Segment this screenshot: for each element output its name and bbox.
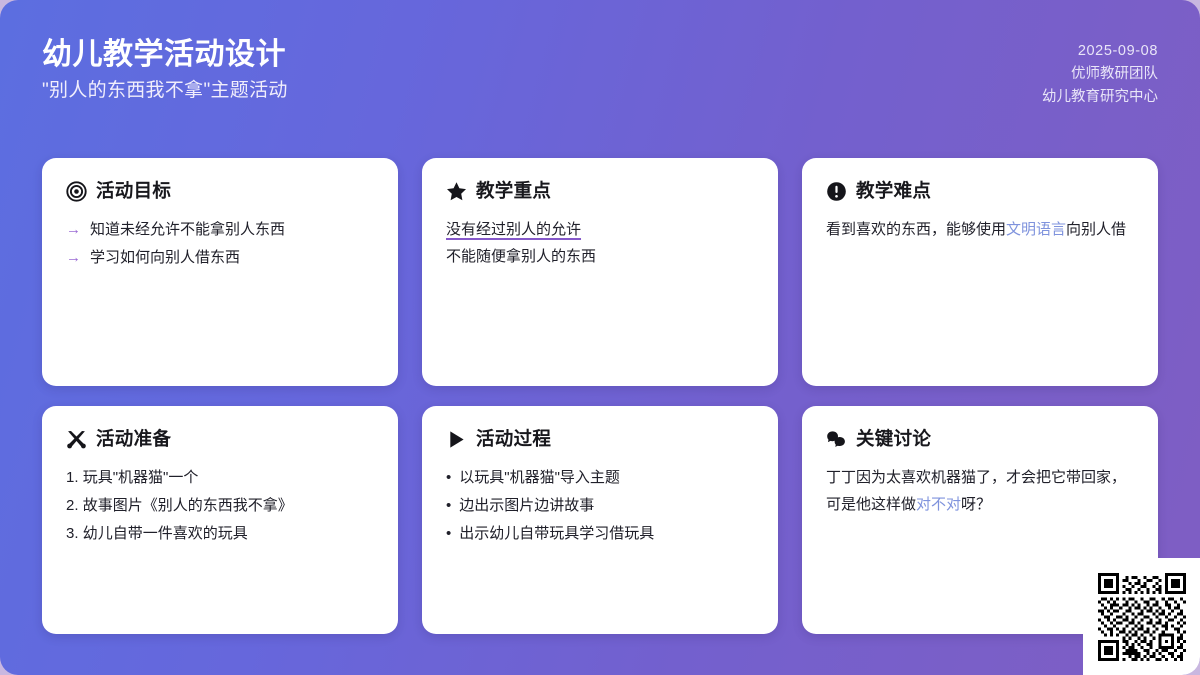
card-activity-preparation: 活动准备 1. 玩具"机器猫"一个 2. 故事图片《别人的东西我不拿》 3. 幼… [42,406,398,634]
card-header: 教学重点 [446,180,754,202]
meta-date: 2025-09-08 [1042,40,1158,63]
meta-org: 幼儿教育研究中心 [1042,86,1158,109]
list-item-label: 边出示图片边讲故事 [459,492,594,520]
list-item: • 出示幼儿自带玩具学习借玩具 [446,520,754,548]
qr-code [1098,573,1186,661]
card-header: 活动目标 [66,180,374,202]
card-title: 教学难点 [856,180,931,202]
card-header: 活动过程 [446,428,754,450]
discussion-paragraph: 丁丁因为太喜欢机器猫了，才会把它带回家，可是他这样做对不对呀？ [826,464,1134,518]
focus-line-2: 不能随便拿别人的东西 [446,243,754,270]
list-item-label: 故事图片《别人的东西我不拿》 [83,497,293,514]
card-body: → 知道未经允许不能拿别人东西 → 学习如何向别人借东西 [66,216,374,272]
list-item: → 学习如何向别人借东西 [66,244,374,272]
list-number: 2. [66,497,79,514]
list-number: 3. [66,525,79,542]
list-item-label: 知道未经允许不能拿别人东西 [90,216,285,244]
preparation-list: 1. 玩具"机器猫"一个 2. 故事图片《别人的东西我不拿》 3. 幼儿自带一件… [66,464,374,548]
paragraph-part: 向别人借 [1066,221,1126,238]
list-item-label: 以玩具"机器猫"导入主题 [459,464,620,492]
card-header: 活动准备 [66,428,374,450]
header-meta: 2025-09-08 优师教研团队 幼儿教育研究中心 [1042,40,1158,109]
card-activity-goals: 活动目标 → 知道未经允许不能拿别人东西 → 学习如何向别人借东西 [42,158,398,386]
list-number: 1. [66,469,79,486]
card-header: 关键讨论 [826,428,1134,450]
process-list: • 以玩具"机器猫"导入主题 • 边出示图片边讲故事 • 出示幼儿自带玩具学习借… [446,464,754,548]
focus-line-1: 没有经过别人的允许 [446,216,754,243]
difficulty-paragraph: 看到喜欢的东西，能够使用文明语言向别人借 [826,216,1134,243]
card-header: 教学难点 [826,180,1134,202]
card-teaching-difficulty: 教学难点 看到喜欢的东西，能够使用文明语言向别人借 [802,158,1158,386]
tools-icon [66,429,87,450]
list-item-label: 玩具"机器猫"一个 [83,469,199,486]
card-title: 活动准备 [96,428,171,450]
exclamation-circle-icon [826,181,847,202]
card-title: 活动过程 [476,428,551,450]
speech-bubbles-icon [826,429,847,450]
bullet-dot-icon: • [446,492,451,520]
arrow-icon: → [66,216,81,244]
list-item: 1. 玩具"机器猫"一个 [66,464,374,492]
card-title: 活动目标 [96,180,171,202]
play-icon [446,429,467,450]
paragraph-part: 呀？ [961,496,991,513]
card-body: 没有经过别人的允许 不能随便拿别人的东西 [446,216,754,270]
arrow-icon: → [66,244,81,272]
focus-line-1-text: 没有经过别人的允许 [446,221,581,238]
list-item: 2. 故事图片《别人的东西我不拿》 [66,492,374,520]
meta-team: 优师教研团队 [1042,63,1158,86]
card-body: 1. 玩具"机器猫"一个 2. 故事图片《别人的东西我不拿》 3. 幼儿自带一件… [66,464,374,548]
qr-code-panel [1083,558,1200,675]
card-title: 关键讨论 [856,428,931,450]
card-activity-process: 活动过程 • 以玩具"机器猫"导入主题 • 边出示图片边讲故事 • 出示幼儿自带… [422,406,778,634]
star-icon [446,181,467,202]
paragraph-highlight: 文明语言 [1006,221,1066,238]
card-body: 看到喜欢的东西，能够使用文明语言向别人借 [826,216,1134,243]
list-item: • 边出示图片边讲故事 [446,492,754,520]
list-item: • 以玩具"机器猫"导入主题 [446,464,754,492]
list-item-label: 出示幼儿自带玩具学习借玩具 [459,520,654,548]
title-block: 幼儿教学活动设计 "别人的东西我不拿"主题活动 [42,36,288,104]
list-item: 3. 幼儿自带一件喜欢的玩具 [66,520,374,548]
card-body: 丁丁因为太喜欢机器猫了，才会把它带回家，可是他这样做对不对呀？ [826,464,1134,518]
goal-list: → 知道未经允许不能拿别人东西 → 学习如何向别人借东西 [66,216,374,272]
list-item: → 知道未经允许不能拿别人东西 [66,216,374,244]
page-title: 幼儿教学活动设计 [42,36,288,74]
card-grid: 活动目标 → 知道未经允许不能拿别人东西 → 学习如何向别人借东西 [42,158,1158,634]
slide-header: 幼儿教学活动设计 "别人的东西我不拿"主题活动 2025-09-08 优师教研团… [0,0,1200,150]
target-icon [66,181,87,202]
list-item-label: 幼儿自带一件喜欢的玩具 [83,525,248,542]
paragraph-highlight: 对不对 [916,496,961,513]
paragraph-part: 看到喜欢的东西，能够使用 [826,221,1006,238]
bullet-dot-icon: • [446,464,451,492]
bullet-dot-icon: • [446,520,451,548]
card-teaching-focus: 教学重点 没有经过别人的允许 不能随便拿别人的东西 [422,158,778,386]
page-subtitle: "别人的东西我不拿"主题活动 [42,78,288,104]
card-body: • 以玩具"机器猫"导入主题 • 边出示图片边讲故事 • 出示幼儿自带玩具学习借… [446,464,754,548]
card-title: 教学重点 [476,180,551,202]
list-item-label: 学习如何向别人借东西 [90,244,240,272]
slide-canvas: 幼儿教学活动设计 "别人的东西我不拿"主题活动 2025-09-08 优师教研团… [0,0,1200,675]
